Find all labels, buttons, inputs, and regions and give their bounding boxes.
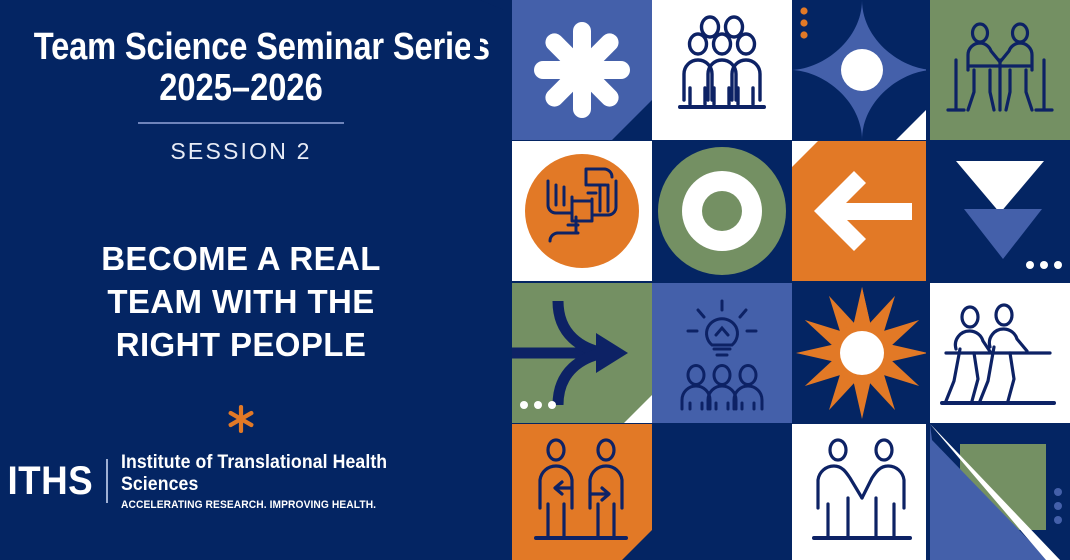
- tile-four-point-star: [792, 0, 932, 140]
- twelve-point-star-icon: [792, 283, 932, 423]
- panel-corner-notch: [470, 0, 530, 56]
- orange-dots: [800, 7, 807, 38]
- two-people-arm-in-arm-icon: [792, 424, 932, 560]
- logo-divider: [106, 459, 108, 503]
- tile-down-triangles: [930, 141, 1070, 281]
- tile-group-of-people: [652, 0, 792, 140]
- corner-cut: [622, 530, 652, 560]
- left-panel: Team Science Seminar Series 2025–2026 SE…: [0, 0, 512, 560]
- grid-seam: [512, 140, 1070, 141]
- tile-sunburst-star: [792, 283, 932, 423]
- white-dots: [520, 401, 556, 409]
- logo-tagline: ACCELERATING RESEARCH. IMPROVING HEALTH.: [121, 499, 457, 511]
- tile-exchange-people: [512, 424, 652, 560]
- poster: Team Science Seminar Series 2025–2026 SE…: [0, 0, 1070, 560]
- white-dots: [1026, 261, 1062, 269]
- tile-grid: [512, 0, 1070, 560]
- tile-target-ring: [652, 141, 792, 281]
- logo-institute-name: Institute of Translational Health Scienc…: [121, 452, 457, 496]
- tile-two-people-arms: [792, 424, 932, 560]
- title-block: Team Science Seminar Series 2025–2026 SE…: [0, 28, 482, 165]
- series-title: Team Science Seminar Series: [34, 28, 449, 67]
- grid-seam: [926, 0, 930, 560]
- tile-team-pulling: [930, 283, 1070, 423]
- logo-text: Institute of Translational Health Scienc…: [121, 452, 482, 511]
- logo-mark: ITHS: [7, 461, 93, 501]
- logo-block: ITHS Institute of Translational Health S…: [0, 404, 482, 511]
- session-label: SESSION 2: [0, 138, 482, 165]
- tile-idea-team: [652, 283, 792, 423]
- asterisk-flower-icon: [512, 0, 652, 140]
- merge-arrow-icon: [512, 283, 652, 423]
- grid-seam: [512, 423, 1070, 424]
- diagonal-triangle-icon: [930, 424, 1070, 560]
- tile-asterisk-flower: [512, 0, 652, 140]
- lightbulb-over-people-icon: [652, 283, 792, 423]
- tile-merge-arrow: [512, 283, 652, 423]
- series-year: 2025–2026: [34, 69, 449, 108]
- corner-cut: [792, 141, 818, 167]
- headline-line-2: TEAM WITH THE: [0, 281, 482, 324]
- target-ring-icon: [652, 141, 792, 281]
- orange-asterisk-icon: [226, 404, 256, 434]
- interlocking-hands-icon: [512, 141, 652, 281]
- tile-two-at-table: [930, 0, 1070, 140]
- tile-interlocking-hands: [512, 141, 652, 281]
- corner-cut: [624, 395, 652, 423]
- two-people-pulling-icon: [930, 283, 1070, 423]
- logo-row: ITHS Institute of Translational Health S…: [0, 452, 482, 511]
- two-people-at-table-icon: [930, 0, 1070, 140]
- left-arrow-icon: [792, 141, 932, 281]
- corner-cut: [612, 100, 652, 140]
- four-point-star-icon: [792, 0, 932, 140]
- tile-diagonal-block: [930, 424, 1070, 560]
- headline-line-1: BECOME A REAL: [0, 238, 482, 281]
- two-people-exchange-icon: [512, 424, 652, 560]
- title-divider: [138, 122, 344, 124]
- headline: BECOME A REAL TEAM WITH THE RIGHT PEOPLE: [0, 238, 482, 367]
- down-triangles-icon: [930, 141, 1070, 281]
- headline-line-3: RIGHT PEOPLE: [0, 324, 482, 367]
- group-of-people-icon: [652, 0, 792, 140]
- tile-left-arrow: [792, 141, 932, 281]
- blue-dots: [1054, 488, 1062, 524]
